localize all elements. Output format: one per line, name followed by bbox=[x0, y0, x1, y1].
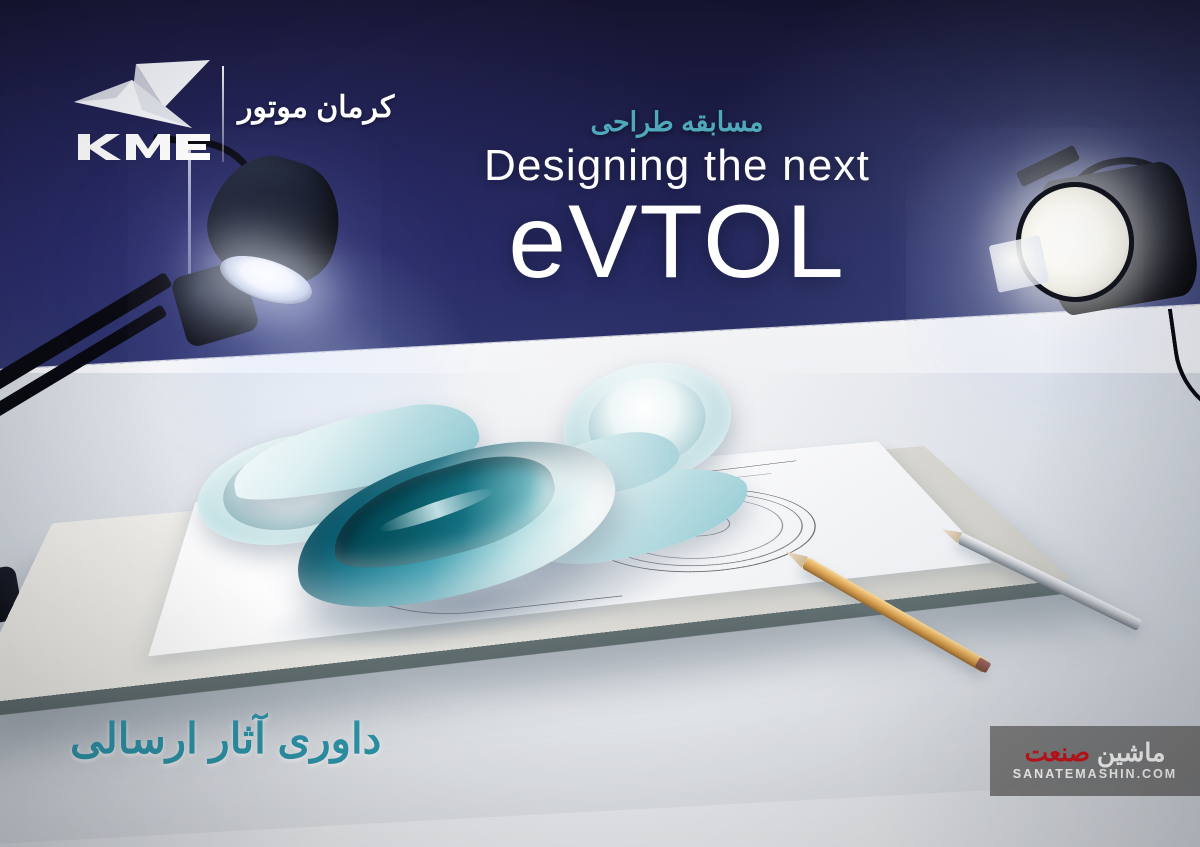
brand-name-persian: کرمان موتور bbox=[238, 93, 394, 123]
watermark-persian-name: ماشین صنعت bbox=[1025, 741, 1166, 766]
watermark-url: SANATEMASHIN.COM bbox=[1013, 768, 1177, 781]
bottom-caption-persian: داوری آثار ارسالی bbox=[70, 714, 381, 763]
watermark-word-industry: صنعت bbox=[1025, 739, 1090, 767]
evtol-concept-model bbox=[170, 352, 790, 672]
watermark-word-machine: ماشین bbox=[1097, 739, 1166, 767]
headline-kicker-persian: مسابقه طراحی bbox=[462, 108, 892, 138]
kme-bird-mark-icon bbox=[72, 58, 212, 134]
kme-logo bbox=[72, 58, 212, 170]
studio-par-light bbox=[996, 152, 1200, 377]
kme-wordmark-icon bbox=[76, 130, 212, 164]
poster-canvas: کرمان موتور مسابقه طراحی Designing the n… bbox=[0, 0, 1200, 847]
brand-lockup: کرمان موتور bbox=[72, 58, 394, 170]
headline-line-2: eVTOL bbox=[462, 190, 892, 294]
headline-block: مسابقه طراحی Designing the next eVTOL bbox=[462, 108, 892, 294]
logo-divider bbox=[222, 66, 224, 162]
site-watermark: ماشین صنعت SANATEMASHIN.COM bbox=[990, 726, 1200, 796]
headline-line-1: Designing the next bbox=[462, 144, 892, 188]
